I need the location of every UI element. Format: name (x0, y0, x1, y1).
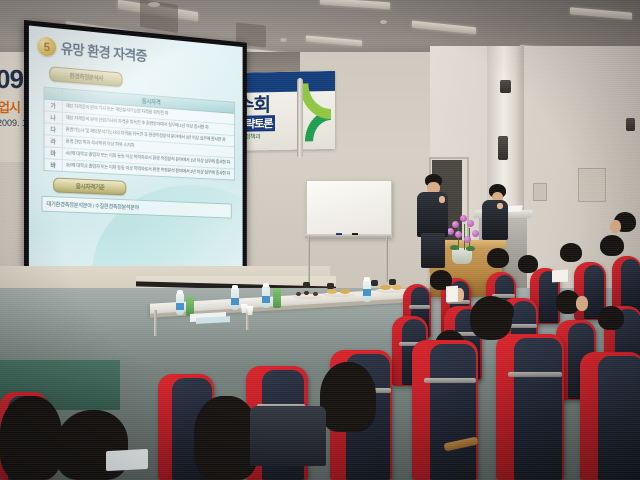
seat-trim (424, 378, 476, 383)
orchid-flower (447, 228, 454, 235)
green-bottle[interactable] (273, 288, 281, 308)
handout-sheet[interactable] (552, 270, 568, 283)
bottle-label (262, 296, 270, 303)
audience-head-foreground (320, 362, 376, 432)
orchid-flower (467, 220, 474, 227)
slide-pill-top: 환경측정분석사 (49, 66, 122, 87)
row-key: 바 (44, 159, 62, 171)
handout-sheet[interactable] (446, 286, 458, 303)
bottle-label (231, 298, 239, 305)
bottle-cap (177, 290, 183, 294)
left-banner-korean-word: 업시 (0, 97, 20, 116)
seat-trim (409, 305, 430, 309)
ceiling-smoke-detector (148, 2, 160, 7)
audience-head-foreground (470, 296, 512, 340)
orchid-flower (460, 215, 467, 222)
orchid-flower (472, 230, 479, 237)
row-key: 나 (44, 111, 62, 123)
audience-head-foreground (194, 396, 258, 480)
snack-item (296, 292, 301, 296)
wall-panel (533, 183, 547, 201)
audience-head (598, 306, 624, 330)
snack-item (327, 289, 337, 294)
audience-head (560, 243, 582, 262)
wall-speaker-icon (626, 118, 635, 131)
bottle-label (176, 303, 184, 310)
audience-face (610, 220, 621, 233)
slide-table: 응시자격 가 해당 자격증의 분야 기사 또는 해당분석기능장 자격을 취득한 … (43, 87, 235, 181)
flower-leaf (466, 246, 475, 251)
seminar-room-photo: 09 업시 2009. 11. 수회 전략토론 환경정책과 5 유망 환경 자격… (0, 0, 640, 480)
seat-backrest (430, 344, 476, 480)
slide-note: 대기환경측정분석분야 / 수질환경측정분석분야 (42, 196, 232, 219)
lectern-person-jacket (482, 200, 508, 240)
whiteboard-marker-tray (305, 234, 391, 238)
screen-surface: 5 유망 환경 자격증 환경측정분석사 응시자격 가 해당 자격증의 분야 기사… (29, 25, 243, 279)
audience-head (600, 235, 624, 256)
green-swoosh-logo-icon (287, 83, 331, 142)
bottle-cap (232, 285, 238, 289)
whiteboard-marker[interactable] (336, 233, 342, 235)
snack-item (304, 291, 309, 295)
ceiling-sprinkler (280, 38, 287, 42)
whiteboard-marker[interactable] (352, 233, 358, 235)
slide-pill-bottom: 응시자격기준 (53, 177, 126, 195)
wall-speaker-icon (500, 80, 511, 93)
bottle-cap (364, 277, 370, 281)
left-banner-number: 09 (0, 64, 23, 95)
lectern-person-hand (497, 203, 503, 209)
ceiling-sprinkler (380, 20, 387, 24)
seat-trim (508, 324, 537, 328)
whiteboard-stand-leg (386, 236, 388, 282)
presenter-trousers (421, 233, 445, 268)
bottle-label (363, 289, 371, 296)
audience-head (518, 255, 538, 273)
handout-sheet[interactable] (106, 449, 148, 471)
wall-pipe (297, 78, 303, 158)
snack-item (313, 292, 318, 296)
seat-backrest (514, 338, 562, 480)
seat-backrest (621, 259, 640, 313)
row-key: 마 (44, 147, 62, 159)
snack-item (380, 285, 391, 290)
orchid-flower (455, 231, 462, 238)
row-key: 다 (44, 123, 62, 135)
flower-leaf (450, 245, 459, 250)
snack-item (392, 285, 402, 290)
audience-face (576, 296, 588, 311)
whiteboard-caster (303, 282, 310, 288)
snack-item (340, 289, 350, 294)
audience-head-foreground (0, 396, 62, 480)
seat-backrest (598, 356, 640, 480)
table-header-blank (44, 88, 62, 100)
whiteboard-stand-leg (308, 236, 310, 284)
row-key: 가 (44, 100, 62, 112)
row-key: 라 (44, 135, 62, 147)
orchid-flower (452, 221, 459, 228)
slide-title: 유망 환경 자격증 (61, 39, 147, 66)
wall-speaker-icon (498, 136, 508, 160)
presenter-hand (439, 196, 445, 203)
front-table-leg (154, 310, 157, 336)
wall-panel (578, 168, 606, 202)
orchid-flower (464, 236, 471, 243)
whiteboard (306, 180, 392, 238)
bottle-cap (263, 283, 269, 287)
audience-head (487, 248, 509, 268)
presentation-slide: 5 유망 환경 자격증 환경측정분석사 응시자격 가 해당 자격증의 분야 기사… (29, 25, 243, 279)
slide-number-badge: 5 (38, 36, 56, 57)
seat-trim (508, 372, 562, 377)
audience-torso (250, 406, 326, 466)
whiteboard-caster (371, 280, 378, 286)
projection-screen: 5 유망 환경 자격증 환경측정분석사 응시자격 가 해당 자격증의 분야 기사… (24, 20, 247, 285)
